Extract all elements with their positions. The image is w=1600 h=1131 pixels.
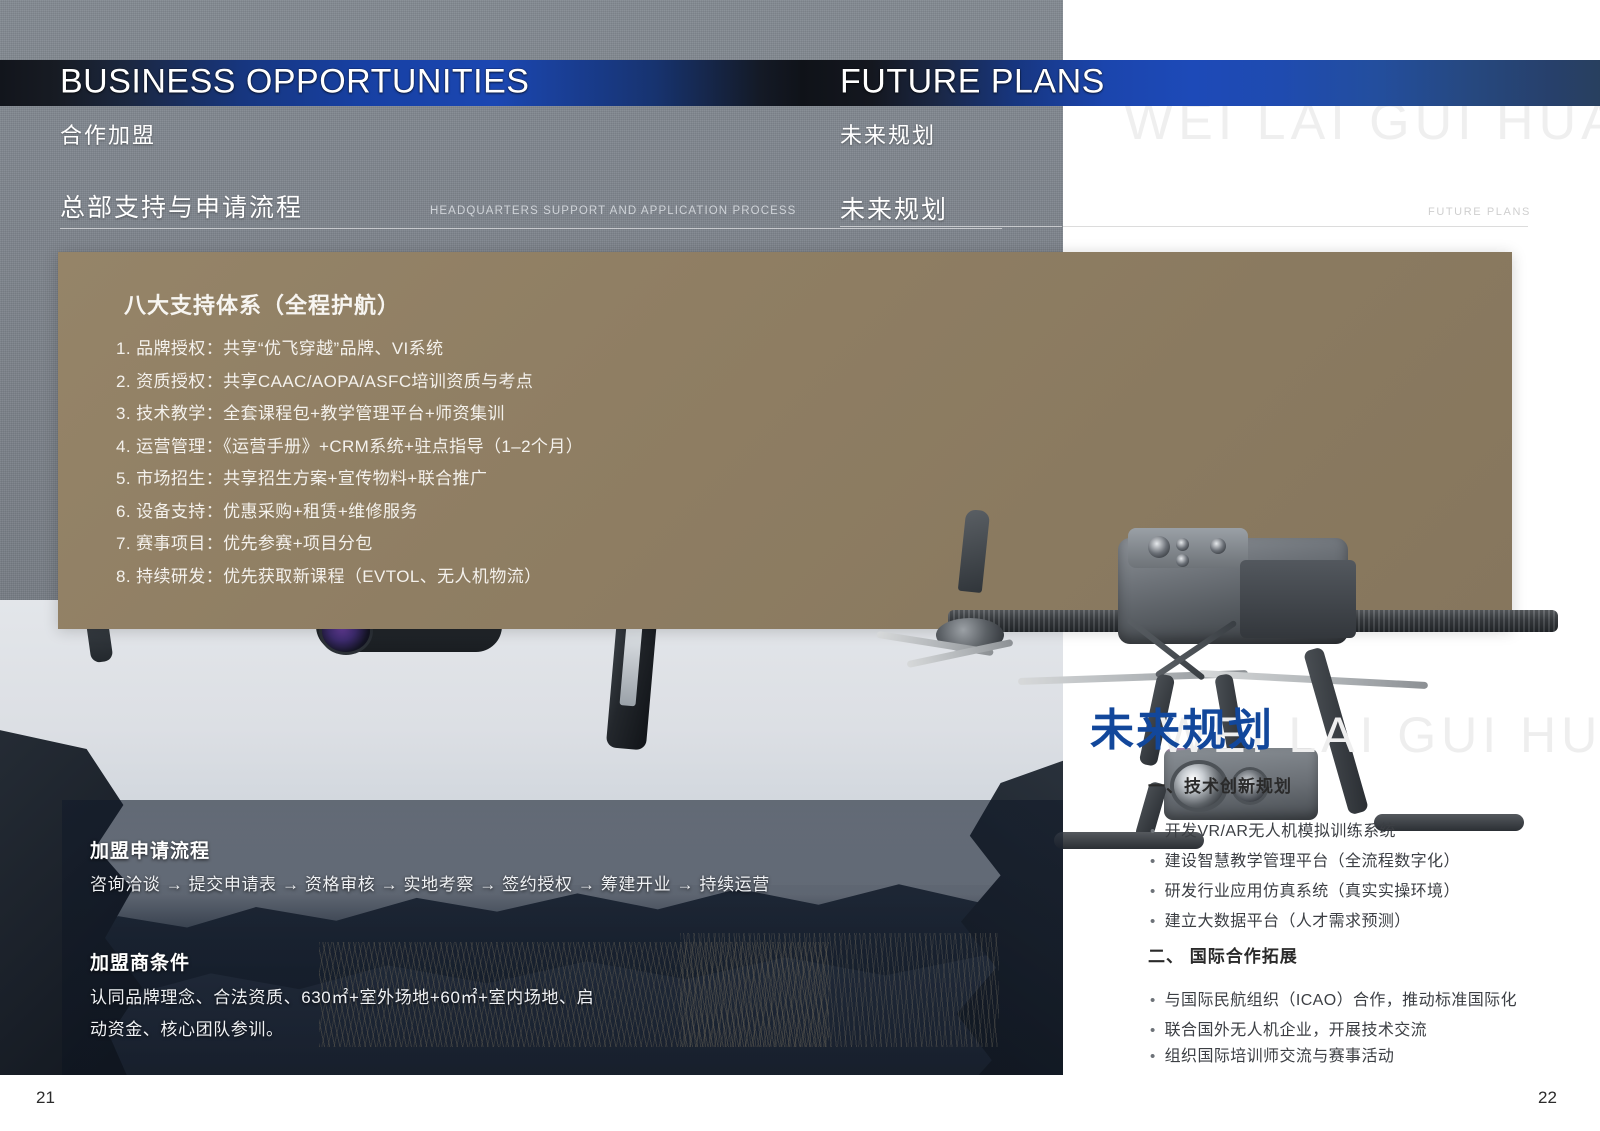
right-page-header-band: FUTURE PLANS xyxy=(800,60,1600,106)
list-item: 建立大数据平台（人才需求预测） xyxy=(1150,907,1411,931)
list-item: 研发行业应用仿真系统（真实实操环境） xyxy=(1150,877,1460,901)
left-section-en: HEADQUARTERS SUPPORT AND APPLICATION PRO… xyxy=(430,205,796,217)
list-item: 组织国际培训师交流与赛事活动 xyxy=(1150,1042,1394,1066)
right-header-divider-grey xyxy=(840,226,1062,227)
right-header-divider xyxy=(1063,226,1528,227)
right-subtitle-cn: 未来规划 xyxy=(840,118,936,150)
panel-title: 八大支持体系（全程护航） xyxy=(124,288,400,320)
left-section-cn: 总部支持与申请流程 xyxy=(60,188,303,224)
support-item: 3. 技术教学：全套课程包+教学管理平台+师资集训 xyxy=(116,405,996,422)
list-item: 与国际民航组织（ICAO）合作，推动标准国际化 xyxy=(1150,986,1517,1010)
conditions-heading: 加盟商条件 xyxy=(90,948,190,975)
list-item: 联合国外无人机企业，开展技术交流 xyxy=(1150,1016,1427,1040)
brochure-spread: WEI LAI GUI HUA 八大支持体系（全程护航） 1. 品牌授权：共享“… xyxy=(0,0,1600,1131)
page-number-left: 21 xyxy=(36,1088,55,1108)
right-section-en: FUTURE PLANS xyxy=(1428,206,1531,218)
application-process-overlay: 加盟申请流程 咨询洽谈 → 提交申请表 → 资格审核 → 实地考察 → 签约授权… xyxy=(62,800,1063,1075)
conditions-text: 认同品牌理念、合法资质、630㎡+室外场地+60㎡+室内场地、启动资金、核心团队… xyxy=(90,982,610,1047)
page-title: 未来规划 xyxy=(1090,694,1274,758)
support-item: 2. 资质授权：共享CAAC/AOPA/ASFC培训资质与考点 xyxy=(116,373,996,390)
list-item: 建设智慧教学管理平台（全流程数字化） xyxy=(1150,847,1460,871)
support-item: 1. 品牌授权：共享“优飞穿越”品牌、VI系统 xyxy=(116,340,996,357)
left-page-header-band: BUSINESS OPPORTUNITIES xyxy=(0,60,800,106)
section-heading-intl: 二、 国际合作拓展 xyxy=(1148,942,1298,967)
footer-strip xyxy=(0,1075,1600,1131)
process-steps: 咨询洽谈 → 提交申请表 → 资格审核 → 实地考察 → 签约授权 → 筹建开业… xyxy=(90,870,770,900)
section-heading-tech: 一、技术创新规划 xyxy=(1148,772,1292,797)
left-band-title: BUSINESS OPPORTUNITIES xyxy=(60,63,529,102)
support-system-panel: 八大支持体系（全程护航） 1. 品牌授权：共享“优飞穿越”品牌、VI系统 2. … xyxy=(58,252,1512,629)
process-heading: 加盟申请流程 xyxy=(90,836,210,863)
right-band-title: FUTURE PLANS xyxy=(840,63,1105,102)
support-item: 5. 市场招生：共享招生方案+宣传物料+联合推广 xyxy=(116,470,996,487)
list-item: 开发VR/AR无人机模拟训练系统 xyxy=(1150,817,1396,841)
page-number-right: 22 xyxy=(1538,1088,1557,1108)
left-subtitle-cn: 合作加盟 xyxy=(60,118,156,150)
support-item: 4. 运营管理：《运营手册》+CRM系统+驻点指导（1–2个月） xyxy=(116,438,996,455)
right-section-cn: 未来规划 xyxy=(840,190,948,226)
left-header-divider xyxy=(60,228,1002,229)
